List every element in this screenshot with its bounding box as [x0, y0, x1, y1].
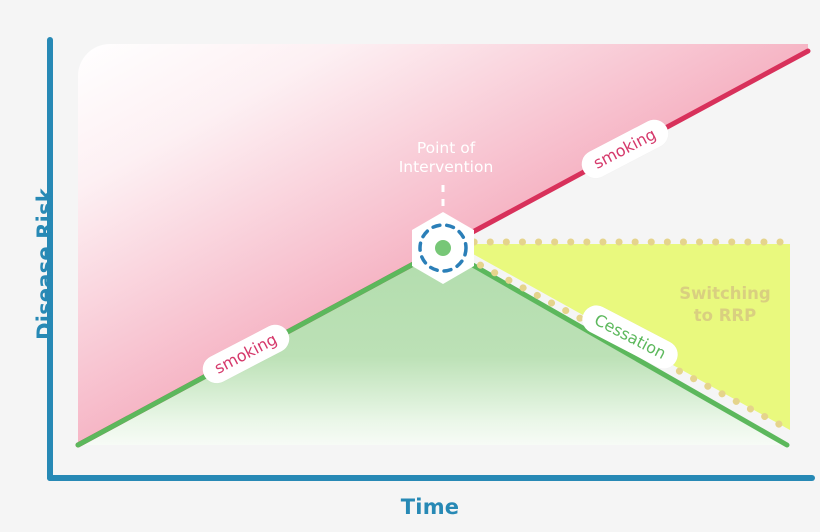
x-axis-label: Time — [360, 495, 500, 519]
poi-label-line2: Intervention — [381, 158, 511, 177]
rrp-label-line1: Switching — [655, 283, 795, 305]
intervention-point-dot[interactable] — [435, 240, 451, 256]
poi-label-line1: Point of — [381, 139, 511, 158]
y-axis-label: Disease Risk — [33, 164, 57, 364]
disease-risk-chart — [0, 0, 820, 532]
switching-to-rrp-label: Switching to RRP — [655, 283, 795, 327]
point-of-intervention-label: Point of Intervention — [381, 139, 511, 177]
chart-canvas: Disease Risk Time smoking smoking Cessat… — [0, 0, 820, 532]
rrp-label-line2: to RRP — [655, 305, 795, 327]
